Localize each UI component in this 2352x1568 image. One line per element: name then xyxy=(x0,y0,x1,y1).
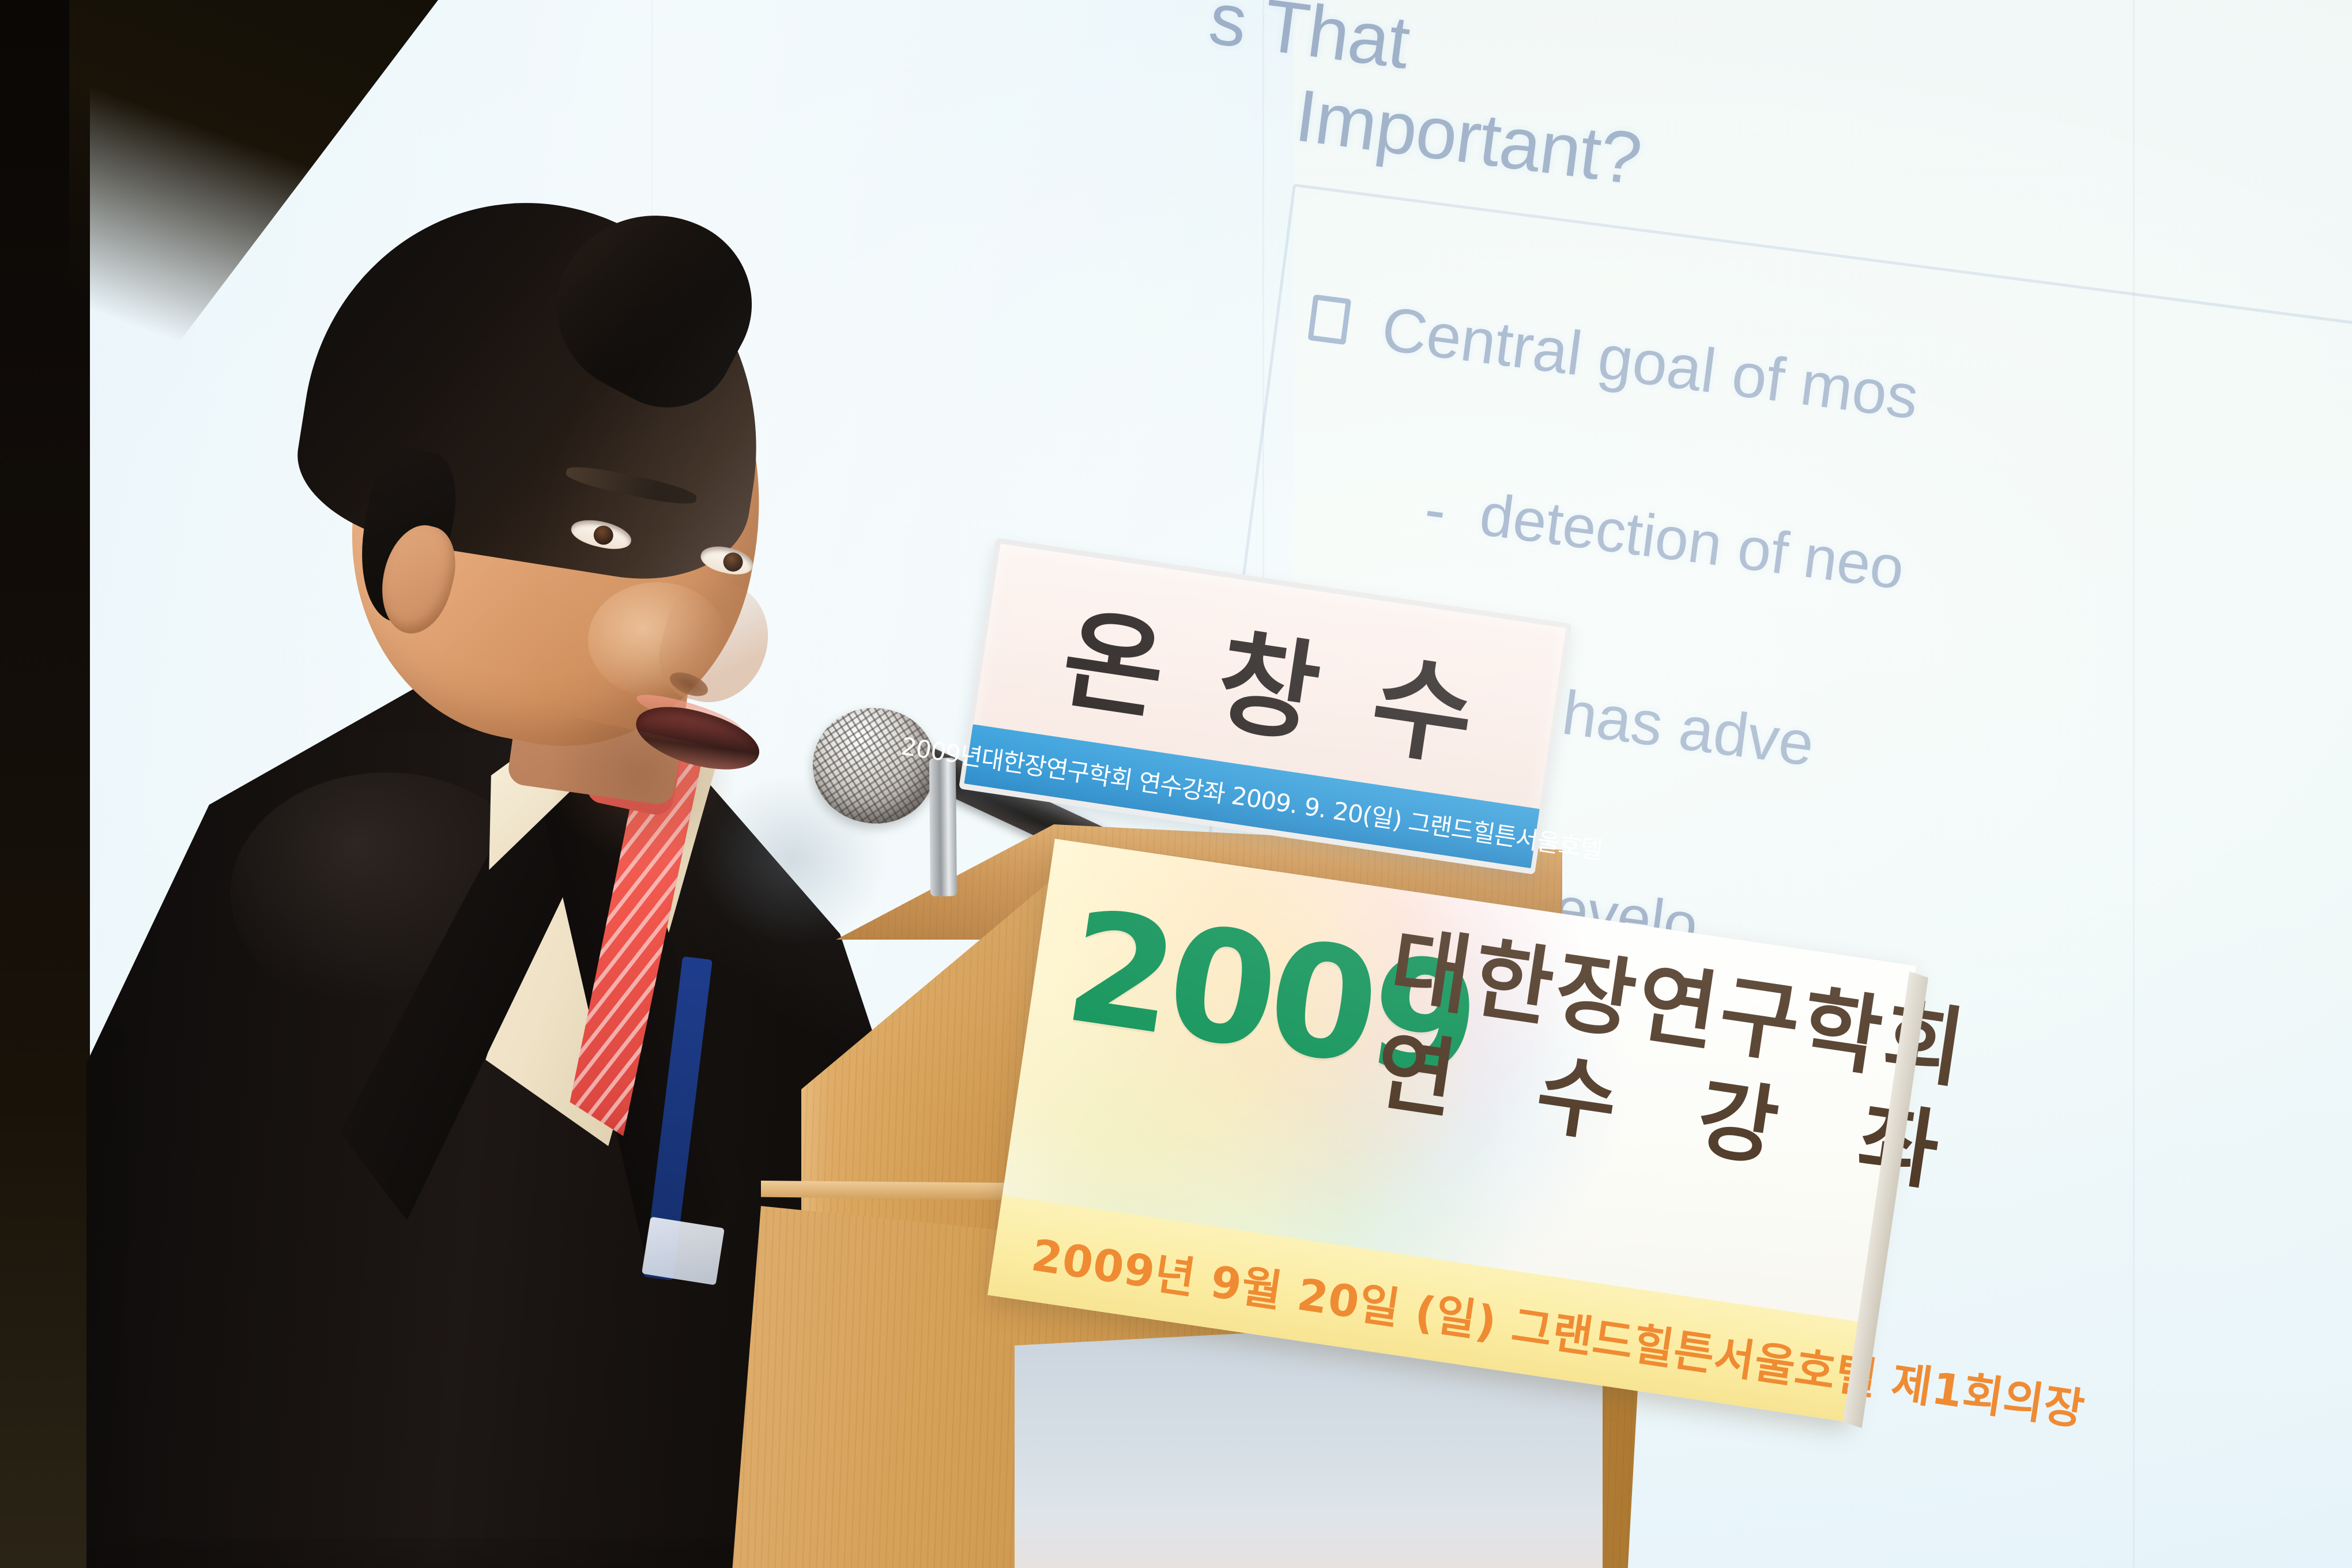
photograph-canvas: s That Important? Central goal of mos - … xyxy=(0,0,2352,1568)
iris xyxy=(721,551,745,574)
nameplate-char-1: 온 xyxy=(1054,570,1177,741)
name-badge xyxy=(642,1216,725,1285)
nameplate-char-2: 창 xyxy=(1208,593,1331,764)
nameplate-stand xyxy=(929,757,957,896)
wall-seam xyxy=(2133,0,2135,1568)
iris xyxy=(592,523,616,546)
nameplate-char-3: 수 xyxy=(1362,616,1486,787)
